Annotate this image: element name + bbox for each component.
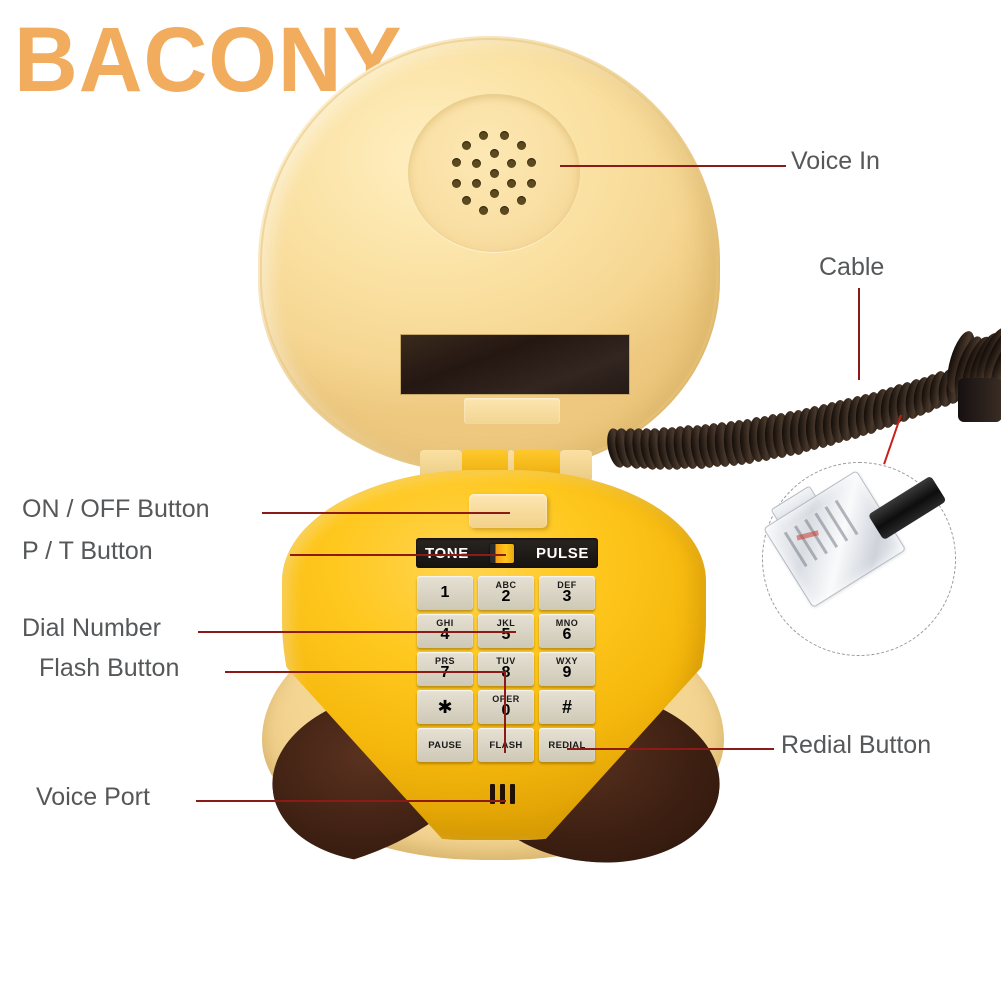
leader-on-off xyxy=(262,512,510,514)
key-digit: 1 xyxy=(441,585,450,601)
tone-pulse-switch[interactable]: TONE PULSE xyxy=(416,538,598,568)
speaker-hole xyxy=(452,179,461,188)
key-pause[interactable]: PAUSE xyxy=(417,728,473,762)
speaker-hole xyxy=(462,141,471,150)
leader-p-t xyxy=(290,554,506,556)
speaker-hole xyxy=(527,179,536,188)
key-digit: 0 xyxy=(502,703,511,719)
label-cable: Cable xyxy=(819,255,884,280)
speaker-hole xyxy=(490,169,499,178)
speaker-hole xyxy=(507,179,516,188)
label-flash: Flash Button xyxy=(39,656,179,681)
leader-voice-port xyxy=(196,800,506,802)
leader-redial xyxy=(567,748,774,750)
leader-cable xyxy=(858,288,860,380)
speaker-hole xyxy=(472,159,481,168)
on-off-button[interactable] xyxy=(469,494,547,528)
pulse-label: PULSE xyxy=(536,545,589,562)
key-digit: 6 xyxy=(563,627,572,643)
key-8[interactable]: TUV8 xyxy=(478,652,534,686)
key-digit: 7 xyxy=(441,665,450,681)
leader-voice-in xyxy=(738,165,786,167)
leader-flash-v xyxy=(504,671,506,753)
label-on-off: ON / OFF Button xyxy=(22,497,210,522)
label-redial: Redial Button xyxy=(781,733,931,758)
label-p-t: P / T Button xyxy=(22,539,153,564)
lid-dark-bar xyxy=(400,334,630,395)
leader-flash-h xyxy=(225,671,505,673)
key-digit: 3 xyxy=(563,589,572,605)
speaker-hole xyxy=(490,149,499,158)
speaker-hole xyxy=(517,141,526,150)
key-1[interactable]: 1 xyxy=(417,576,473,610)
key-flash[interactable]: FLASH xyxy=(478,728,534,762)
label-dial-number: Dial Number xyxy=(22,616,161,641)
key-digit: 4 xyxy=(441,627,450,643)
leader-voice-in-inner xyxy=(560,165,740,167)
key-label: FLASH xyxy=(489,740,522,751)
key-7[interactable]: PRS7 xyxy=(417,652,473,686)
key-2[interactable]: ABC2 xyxy=(478,576,534,610)
key-label: PAUSE xyxy=(428,740,462,751)
switch-knob[interactable] xyxy=(490,544,514,563)
key-hash[interactable]: # xyxy=(539,690,595,724)
lid-latch-tab xyxy=(464,398,560,424)
cable-end xyxy=(958,378,1001,422)
speaker-hole xyxy=(472,179,481,188)
coiled-cable xyxy=(600,320,1001,500)
product-annotation-image: BACONY TONE PULSE 1ABC2DEF3GHI4JKL5MNO6P… xyxy=(0,0,1001,1001)
key-6[interactable]: MNO6 xyxy=(539,614,595,648)
voice-port-slot xyxy=(510,784,515,804)
key-digit: 5 xyxy=(502,627,511,643)
speaker-hole xyxy=(500,131,509,140)
key-9[interactable]: WXY9 xyxy=(539,652,595,686)
key-digit: 9 xyxy=(563,665,572,681)
speaker-hole xyxy=(500,206,509,215)
speaker-hole xyxy=(490,189,499,198)
tone-label: TONE xyxy=(425,545,469,562)
speaker-hole xyxy=(507,159,516,168)
key-star[interactable]: ✱ xyxy=(417,690,473,724)
key-digit: 8 xyxy=(502,665,511,681)
key-digit: ✱ xyxy=(437,698,452,716)
key-redial[interactable]: REDIAL xyxy=(539,728,595,762)
key-0[interactable]: OPER0 xyxy=(478,690,534,724)
label-voice-in: Voice In xyxy=(791,149,880,174)
key-3[interactable]: DEF3 xyxy=(539,576,595,610)
leader-dial-number xyxy=(198,631,516,633)
label-voice-port: Voice Port xyxy=(36,785,150,810)
key-digit: 2 xyxy=(502,589,511,605)
key-digit: # xyxy=(562,698,572,716)
